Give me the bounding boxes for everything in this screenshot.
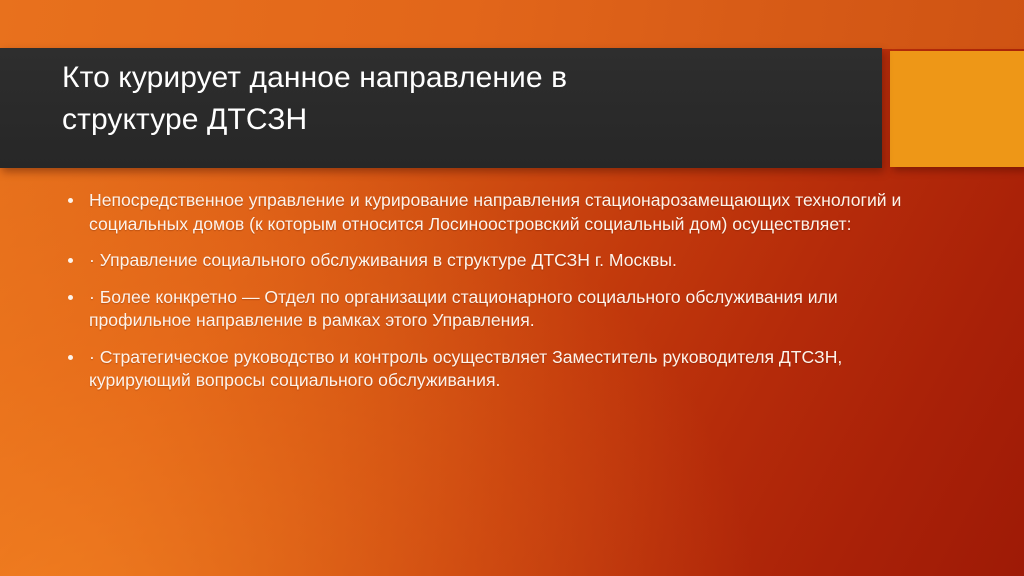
list-item-text: · Более конкретно — Отдел по организации… xyxy=(89,286,902,333)
bullet-dot-icon xyxy=(68,355,73,360)
bullet-dot-icon xyxy=(68,295,73,300)
list-item: Непосредственное управление и курировани… xyxy=(62,189,902,236)
presentation-slide: Кто курирует данное направление в структ… xyxy=(0,0,1024,576)
list-item: · Более конкретно — Отдел по организации… xyxy=(62,286,902,333)
list-item-text: Непосредственное управление и курировани… xyxy=(89,189,902,236)
list-item: · Управление социального обслуживания в … xyxy=(62,249,902,273)
list-item-text: · Управление социального обслуживания в … xyxy=(89,249,902,273)
title-bar: Кто курирует данное направление в структ… xyxy=(0,48,882,168)
slide-title: Кто курирует данное направление в структ… xyxy=(62,57,852,141)
bullet-dot-icon xyxy=(68,258,73,263)
slide-body: Непосредственное управление и курировани… xyxy=(62,189,902,393)
bullet-dot-icon xyxy=(68,198,73,203)
list-item: · Стратегическое руководство и контроль … xyxy=(62,346,902,393)
list-item-text: · Стратегическое руководство и контроль … xyxy=(89,346,902,393)
top-color-band xyxy=(0,0,1024,49)
accent-rectangle xyxy=(890,51,1024,167)
